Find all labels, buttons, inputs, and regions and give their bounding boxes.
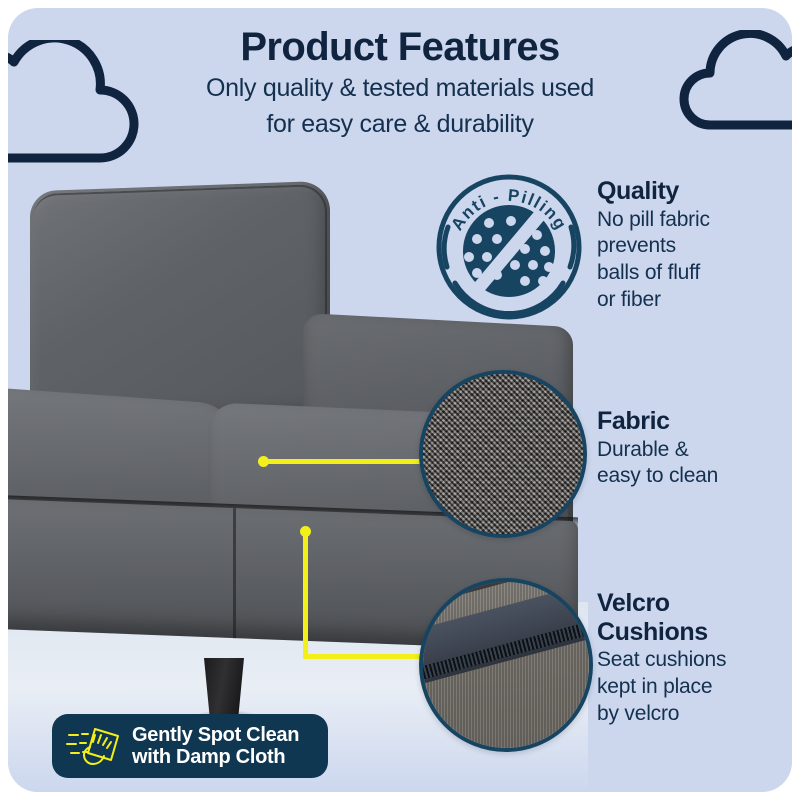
- leader-line-velcro-vertical: [303, 531, 308, 659]
- feature-body-quality-line-1: No pill fabric: [597, 207, 782, 234]
- subtitle-line-1: Only quality & tested materials used: [8, 73, 792, 105]
- feature-body-fabric-line-2: easy to clean: [597, 463, 787, 490]
- feature-body-velcro-line-1: Seat cushions: [597, 647, 787, 674]
- fabric-weave-texture: [423, 374, 583, 534]
- feature-text-fabric: Fabric Durable & easy to clean: [597, 408, 787, 490]
- feature-text-velcro: Velcro Cushions Seat cushions kept in pl…: [597, 590, 787, 728]
- feature-heading-quality: Quality: [597, 178, 782, 206]
- feature-body-velcro-line-3: by velcro: [597, 701, 787, 728]
- velcro-fabric-background: [423, 582, 589, 748]
- feature-body-quality-line-3: balls of fluff: [597, 260, 782, 287]
- anti-pilling-badge-icon: Anti - Pilling: [433, 171, 585, 323]
- feature-body-quality-line-2: prevents: [597, 233, 782, 260]
- screenshot-canvas: Product Features Only quality & tested m…: [0, 0, 800, 800]
- feature-body-velcro-line-2: kept in place: [597, 674, 787, 701]
- leader-dot-fabric: [258, 456, 269, 467]
- sofa-leg: [204, 658, 244, 716]
- care-badge-line-2: with Damp Cloth: [132, 746, 299, 768]
- care-badge-line-1: Gently Spot Clean: [132, 724, 299, 746]
- product-feature-card: Product Features Only quality & tested m…: [8, 8, 792, 792]
- care-instruction-badge: Gently Spot Clean with Damp Cloth: [52, 714, 328, 778]
- feature-text-quality: Quality No pill fabric prevents balls of…: [597, 178, 782, 314]
- feature-body-quality-line-4: or fiber: [597, 287, 782, 314]
- hand-wiping-cloth-icon: [66, 724, 122, 768]
- header-block: Product Features Only quality & tested m…: [8, 26, 792, 140]
- feature-body-fabric-line-1: Durable &: [597, 437, 787, 464]
- fabric-closeup-circle: [419, 370, 587, 538]
- page-title: Product Features: [8, 26, 792, 69]
- feature-heading-fabric: Fabric: [597, 408, 787, 436]
- feature-heading-velcro-line-2: Cushions: [597, 619, 787, 647]
- velcro-hook-strip: [419, 611, 593, 683]
- subtitle-line-2: for easy care & durability: [8, 109, 792, 141]
- feature-heading-velcro-line-1: Velcro: [597, 590, 787, 618]
- care-badge-text: Gently Spot Clean with Damp Cloth: [132, 724, 299, 769]
- velcro-closeup-circle: [419, 578, 593, 752]
- leader-dot-velcro: [300, 526, 311, 537]
